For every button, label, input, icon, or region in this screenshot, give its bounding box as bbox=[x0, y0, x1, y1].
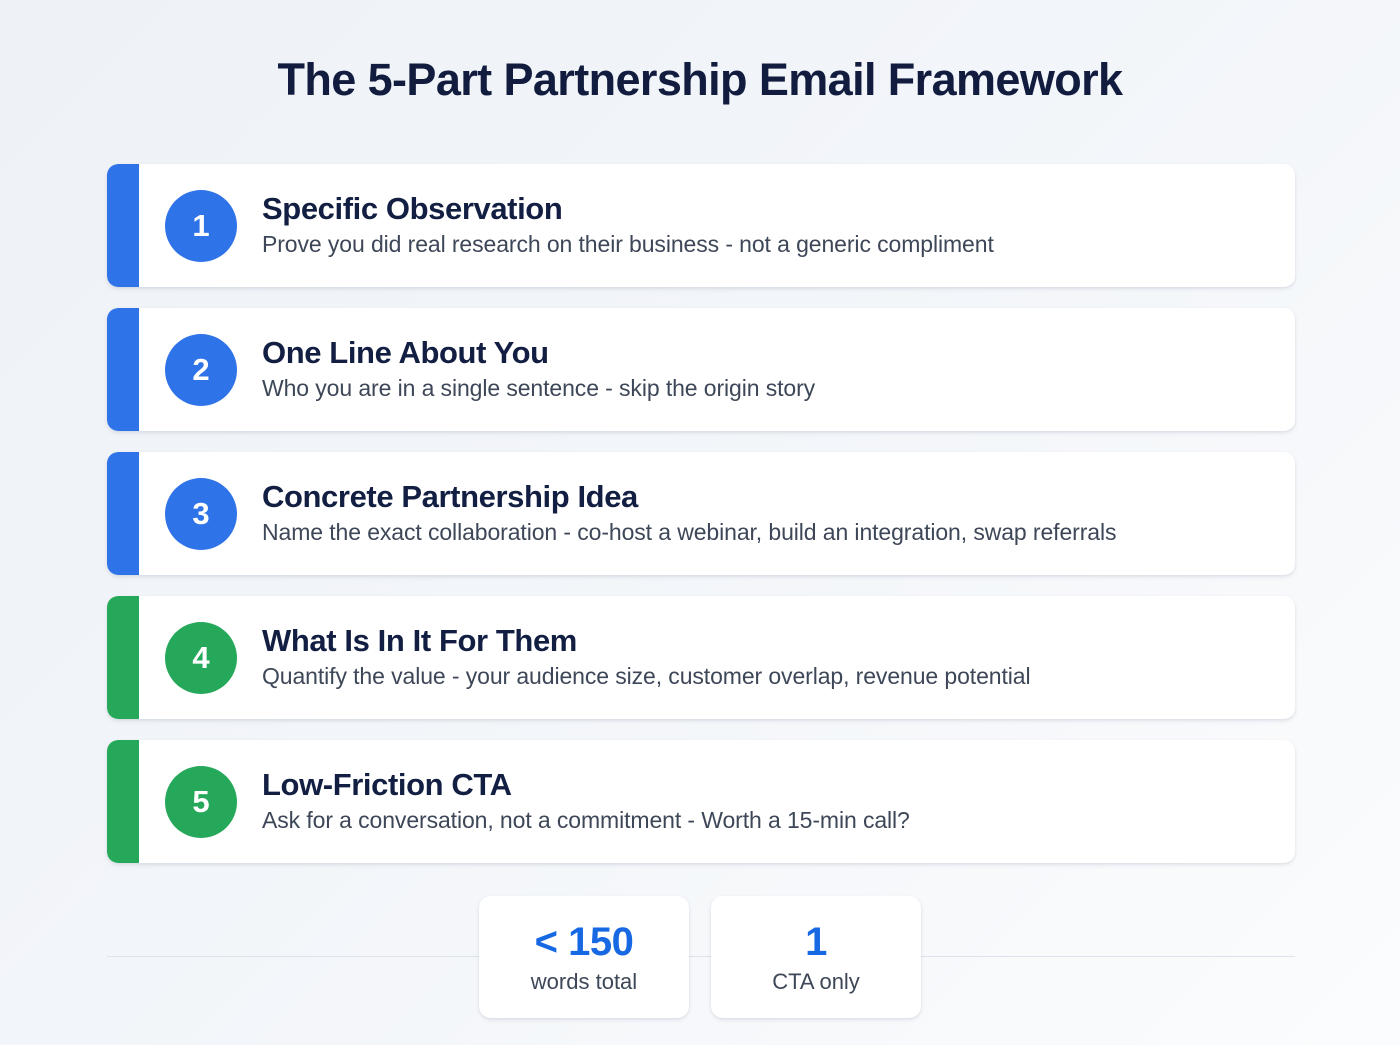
step-description: Prove you did real research on their bus… bbox=[262, 230, 1269, 260]
step-number-label: 3 bbox=[192, 498, 209, 529]
step-accent-bar bbox=[107, 164, 139, 287]
framework-step-card[interactable]: 3Concrete Partnership IdeaName the exact… bbox=[107, 452, 1295, 575]
step-number-badge: 5 bbox=[165, 766, 237, 838]
step-number-badge: 3 bbox=[165, 478, 237, 550]
step-title: Concrete Partnership Idea bbox=[262, 479, 1269, 515]
stat-label: CTA only bbox=[772, 969, 860, 995]
framework-step-list: 1Specific ObservationProve you did real … bbox=[107, 164, 1295, 884]
step-text-block: What Is In It For ThemQuantify the value… bbox=[262, 623, 1269, 693]
page-title: The 5-Part Partnership Email Framework bbox=[0, 54, 1400, 106]
step-description: Ask for a conversation, not a commitment… bbox=[262, 806, 1269, 836]
step-text-block: Low-Friction CTAAsk for a conversation, … bbox=[262, 767, 1269, 837]
step-title: Specific Observation bbox=[262, 191, 1269, 227]
step-accent-bar bbox=[107, 596, 139, 719]
stat-box[interactable]: < 150words total bbox=[479, 896, 689, 1018]
step-number-badge: 4 bbox=[165, 622, 237, 694]
step-number-label: 1 bbox=[192, 210, 209, 241]
infographic-page: The 5-Part Partnership Email Framework 1… bbox=[0, 0, 1400, 1045]
framework-step-card[interactable]: 1Specific ObservationProve you did real … bbox=[107, 164, 1295, 287]
step-accent-bar bbox=[107, 452, 139, 575]
step-title: One Line About You bbox=[262, 335, 1269, 371]
step-description: Quantify the value - your audience size,… bbox=[262, 662, 1269, 692]
stat-value: < 150 bbox=[535, 919, 634, 965]
framework-step-card[interactable]: 2One Line About YouWho you are in a sing… bbox=[107, 308, 1295, 431]
step-text-block: One Line About YouWho you are in a singl… bbox=[262, 335, 1269, 405]
step-description: Who you are in a single sentence - skip … bbox=[262, 374, 1269, 404]
stat-value: 1 bbox=[805, 919, 827, 965]
step-description: Name the exact collaboration - co-host a… bbox=[262, 518, 1269, 548]
step-title: Low-Friction CTA bbox=[262, 767, 1269, 803]
step-number-label: 5 bbox=[192, 786, 209, 817]
step-number-badge: 1 bbox=[165, 190, 237, 262]
framework-step-card[interactable]: 4What Is In It For ThemQuantify the valu… bbox=[107, 596, 1295, 719]
step-number-badge: 2 bbox=[165, 334, 237, 406]
stat-label: words total bbox=[531, 969, 637, 995]
step-number-label: 4 bbox=[192, 642, 209, 673]
step-accent-bar bbox=[107, 308, 139, 431]
stat-box[interactable]: 1CTA only bbox=[711, 896, 921, 1018]
framework-step-card[interactable]: 5Low-Friction CTAAsk for a conversation,… bbox=[107, 740, 1295, 863]
step-number-label: 2 bbox=[192, 354, 209, 385]
step-text-block: Concrete Partnership IdeaName the exact … bbox=[262, 479, 1269, 549]
step-text-block: Specific ObservationProve you did real r… bbox=[262, 191, 1269, 261]
step-title: What Is In It For Them bbox=[262, 623, 1269, 659]
stat-box-list: < 150words total1CTA only bbox=[0, 896, 1400, 1018]
step-accent-bar bbox=[107, 740, 139, 863]
